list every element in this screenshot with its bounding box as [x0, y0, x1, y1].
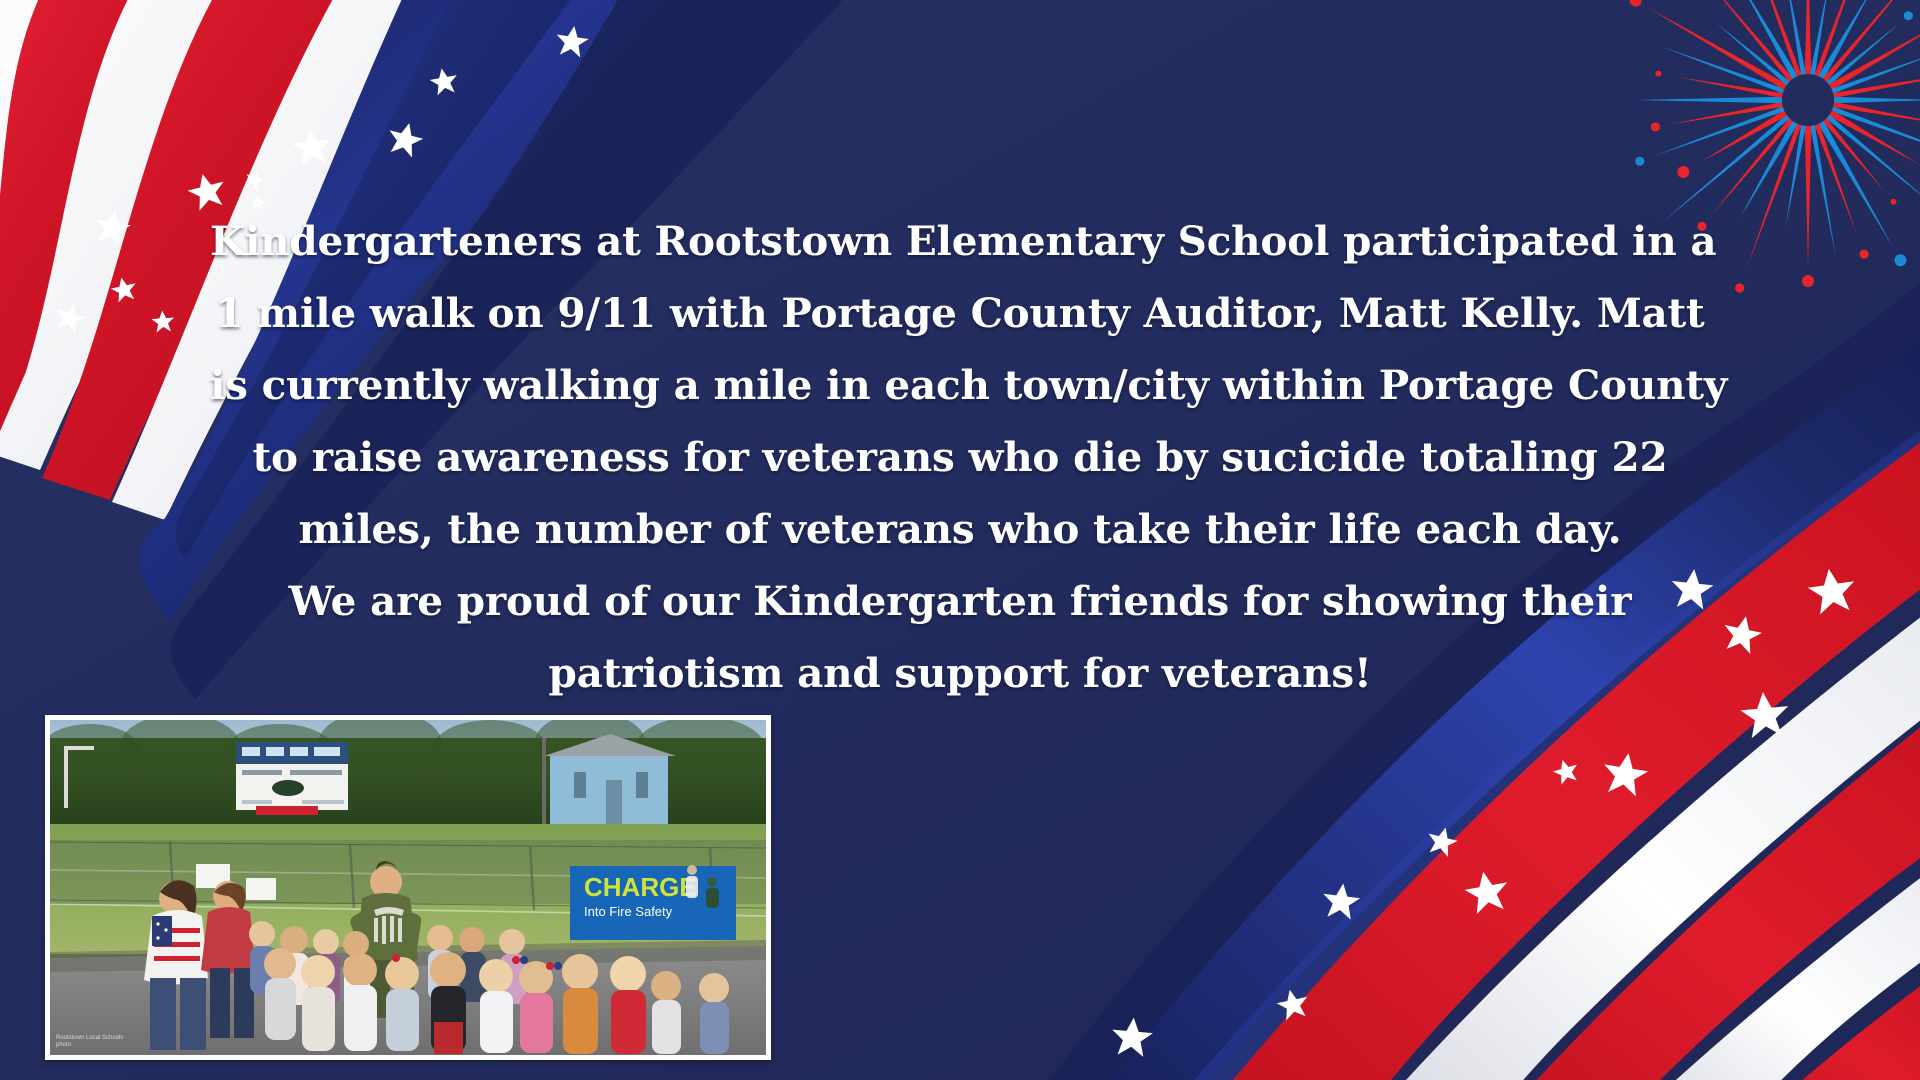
announcement-canvas: Kindergarteners at Rootstown Elementary …: [0, 0, 1920, 1080]
firework-ray: [1805, 0, 1812, 74]
svg-text:Into Fire Safety: Into Fire Safety: [584, 904, 673, 919]
firework-spark-dot: [1635, 157, 1644, 166]
svg-text:CHARGE: CHARGE: [584, 872, 697, 902]
firework-spark-dot: [1697, 222, 1706, 231]
firework-ray: [1834, 97, 1920, 104]
firework-spark-dot: [1655, 71, 1661, 77]
firework-ray: [1734, 0, 1798, 79]
firework-spark-dot: [1630, 0, 1642, 7]
firework-spark-dot: [1859, 250, 1868, 259]
firework-spark-dot: [1890, 199, 1896, 205]
event-photo-image: CHARGE Into Fire Safety: [50, 720, 766, 1055]
firework-ray: [1786, 125, 1806, 226]
firework-spark-dot: [1802, 275, 1814, 287]
firework-spark-dot: [1651, 122, 1660, 131]
firework-ray: [1661, 47, 1784, 94]
firework-ray: [1805, 126, 1812, 268]
firework-ray: [1704, 0, 1793, 82]
firework-spark-dot: [1895, 254, 1907, 266]
firework-spark-dot: [1677, 166, 1689, 178]
photo-credit: Rootstown Local Schools photo: [56, 1035, 123, 1049]
firework-ray: [1634, 97, 1782, 104]
firework-ray: [1678, 77, 1783, 98]
firework-spark-dot: [1904, 11, 1913, 20]
event-photo: CHARGE Into Fire Safety: [45, 715, 771, 1060]
firework-ray: [1829, 20, 1920, 90]
firework-spark-dot: [1735, 283, 1744, 292]
